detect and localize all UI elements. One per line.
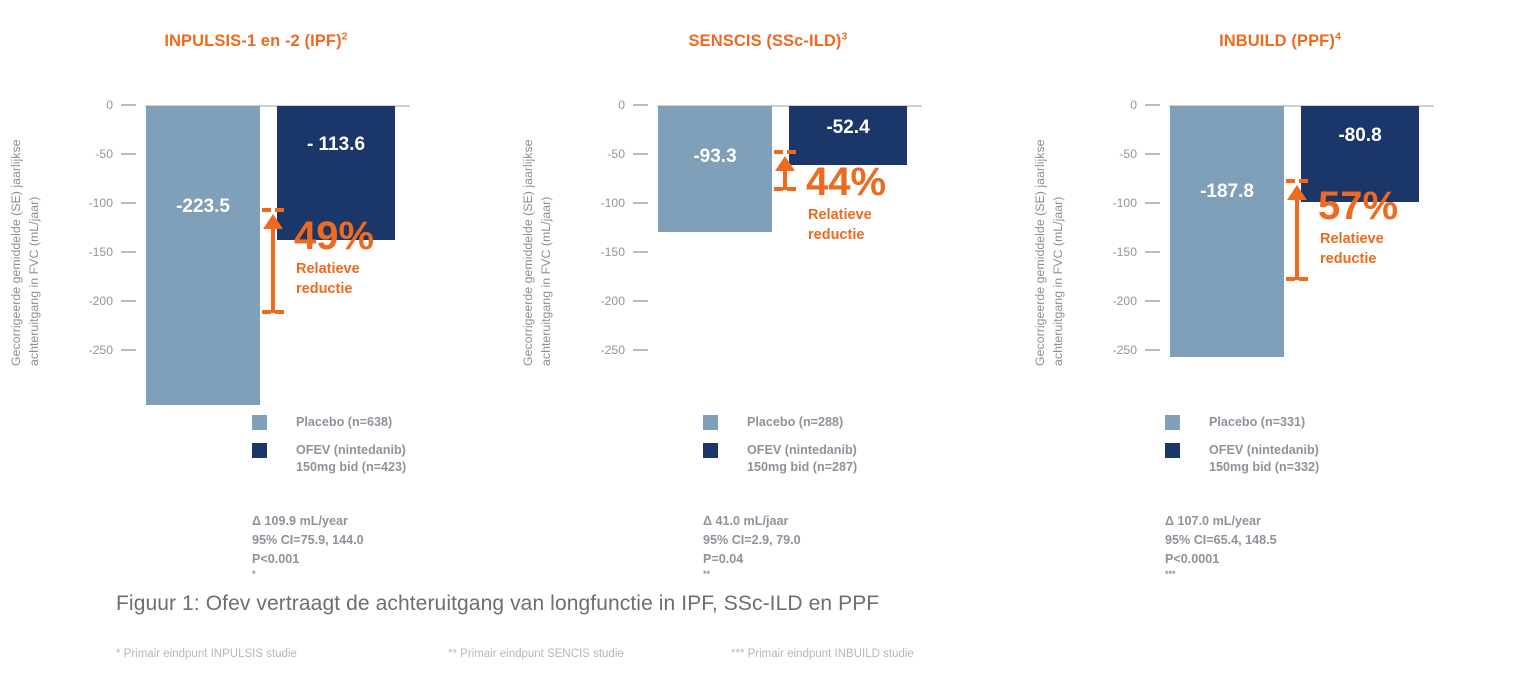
reduction-sub-line1: Relatieve	[808, 206, 872, 226]
legend-label-ofev: OFEV (nintedanib) 150mg bid (n=287)	[747, 442, 857, 476]
chart-panel-inpulsis: INPULSIS-1 en -2 (IPF)2 Gecorrigeerde ge…	[0, 0, 512, 580]
y-axis-title-line2: achteruitgang in FVC (mL/jaar)	[1050, 86, 1068, 366]
stat-pvalue: P=0.04**	[703, 550, 801, 588]
y-tick-m150: -150	[58, 245, 136, 259]
y-tick-m250: -250	[570, 343, 648, 357]
footnote-2: ** Primair eindpunt SENCIS studie	[448, 648, 731, 660]
arrow-head-icon	[1287, 185, 1307, 200]
reduction-sub-line1: Relatieve	[1320, 230, 1384, 250]
stat-ci: 95% CI=2.9, 79.0	[703, 531, 801, 550]
stats-inpulsis: Δ 109.9 mL/year 95% CI=75.9, 144.0 P<0.0…	[252, 512, 364, 588]
y-tick-m200: -200	[58, 294, 136, 308]
plot-area-senscis: Gecorrigeerde gemiddelde (SE) jaarlijkse…	[512, 86, 1024, 376]
stat-ci: 95% CI=65.4, 148.5	[1165, 531, 1277, 550]
legend-label-placebo: Placebo (n=638)	[296, 414, 392, 431]
y-tick-m200: -200	[570, 294, 648, 308]
legend-label-ofev: OFEV (nintedanib) 150mg bid (n=423)	[296, 442, 406, 476]
legend-label-placebo: Placebo (n=331)	[1209, 414, 1305, 431]
y-tick-m50: -50	[570, 147, 648, 161]
legend-item-ofev: OFEV (nintedanib) 150mg bid (n=423)	[252, 442, 552, 476]
tick-dash	[1145, 153, 1160, 155]
dash-marker-top	[1286, 179, 1308, 183]
tick-dash	[1145, 104, 1160, 106]
tick-dash	[633, 300, 648, 302]
reduction-percent: 49%	[294, 216, 374, 256]
tick-dash	[121, 251, 136, 253]
chart-title-superscript: 4	[1335, 31, 1341, 43]
arrow-shaft	[271, 223, 275, 313]
y-axis-title-line1: Gecorrigeerde gemiddelde (SE) jaarlijkse	[1032, 86, 1050, 366]
y-tick-m50: -50	[1082, 147, 1160, 161]
bar-value-placebo: -93.3	[693, 146, 736, 168]
dash-marker-top	[262, 208, 284, 212]
tick-dash	[633, 202, 648, 204]
y-tick-m50: -50	[58, 147, 136, 161]
dash-marker-top	[774, 150, 796, 154]
stat-pvalue-superscript: *	[252, 568, 256, 578]
arrow-head-icon	[263, 214, 283, 229]
legend-item-placebo: Placebo (n=638)	[252, 414, 552, 431]
y-tick-m100: -100	[1082, 196, 1160, 210]
y-tick-m200: -200	[1082, 294, 1160, 308]
bar-ofev-senscis: -52.4	[789, 106, 907, 165]
bar-placebo-inbuild: -187.8	[1170, 106, 1284, 357]
legend-swatch-ofev	[252, 443, 267, 458]
chart-title-text: INBUILD (PPF)	[1219, 32, 1335, 50]
footnote-3: *** Primair eindpunt INBUILD studie	[731, 648, 914, 660]
bar-value-placebo: -223.5	[176, 196, 230, 218]
y-tick-0: 0	[1082, 98, 1160, 112]
bar-value-placebo: -187.8	[1200, 181, 1254, 203]
legend-inbuild: Placebo (n=331) OFEV (nintedanib) 150mg …	[1165, 414, 1465, 487]
y-axis-title-line2: achteruitgang in FVC (mL/jaar)	[538, 86, 556, 366]
figure-footnotes: * Primair eindpunt INPULSIS studie ** Pr…	[116, 648, 914, 660]
stat-pvalue-superscript: ***	[1165, 568, 1176, 578]
y-axis-title-line1: Gecorrigeerde gemiddelde (SE) jaarlijkse	[8, 86, 26, 366]
footnote-1: * Primair eindpunt INPULSIS studie	[116, 648, 448, 660]
y-axis-title-line2: achteruitgang in FVC (mL/jaar)	[26, 86, 44, 366]
y-tick-m150: -150	[570, 245, 648, 259]
chart-title-text: INPULSIS-1 en -2 (IPF)	[164, 32, 341, 50]
chart-title-senscis: SENSCIS (SSc-ILD)3	[512, 32, 1024, 51]
y-tick-m250: -250	[1082, 343, 1160, 357]
tick-dash	[121, 153, 136, 155]
legend-item-ofev: OFEV (nintedanib) 150mg bid (n=287)	[703, 442, 1003, 476]
stat-delta: Δ 41.0 mL/jaar	[703, 512, 801, 531]
legend-label-placebo: Placebo (n=288)	[747, 414, 843, 431]
y-tick-0: 0	[570, 98, 648, 112]
stat-pvalue: P<0.001*	[252, 550, 364, 588]
tick-dash	[633, 349, 648, 351]
legend-item-placebo: Placebo (n=288)	[703, 414, 1003, 431]
tick-dash	[121, 202, 136, 204]
tick-dash	[633, 251, 648, 253]
chart-title-inbuild: INBUILD (PPF)4	[1024, 32, 1536, 51]
y-axis-title-line1: Gecorrigeerde gemiddelde (SE) jaarlijkse	[520, 86, 538, 366]
tick-dash	[121, 104, 136, 106]
legend-swatch-ofev	[1165, 443, 1180, 458]
legend-item-ofev: OFEV (nintedanib) 150mg bid (n=332)	[1165, 442, 1465, 476]
y-axis-ticks-inpulsis: 0 -50 -100 -150 -200 -250	[58, 86, 136, 376]
y-axis-ticks-inbuild: 0 -50 -100 -150 -200 -250	[1082, 86, 1160, 376]
y-tick-m250: -250	[58, 343, 136, 357]
tick-dash	[1145, 300, 1160, 302]
tick-dash	[1145, 251, 1160, 253]
chart-panel-senscis: SENSCIS (SSc-ILD)3 Gecorrigeerde gemidde…	[512, 0, 1024, 580]
y-tick-m100: -100	[570, 196, 648, 210]
tick-dash	[1145, 202, 1160, 204]
bar-value-ofev: - 113.6	[307, 134, 365, 156]
chart-title-text: SENSCIS (SSc-ILD)	[689, 32, 842, 50]
reduction-sub-line1: Relatieve	[296, 260, 360, 280]
legend-swatch-placebo	[252, 415, 267, 430]
reduction-percent: 44%	[806, 162, 886, 202]
legend-item-placebo: Placebo (n=331)	[1165, 414, 1465, 431]
y-axis-ticks-senscis: 0 -50 -100 -150 -200 -250	[570, 86, 648, 376]
stats-senscis: Δ 41.0 mL/jaar 95% CI=2.9, 79.0 P=0.04**	[703, 512, 801, 588]
chart-title-superscript: 2	[342, 31, 348, 43]
y-axis-title-inbuild: Gecorrigeerde gemiddelde (SE) jaarlijkse…	[1032, 86, 1078, 366]
reduction-sub-line2: reductie	[1320, 250, 1376, 270]
y-axis-title-inpulsis: Gecorrigeerde gemiddelde (SE) jaarlijkse…	[8, 86, 54, 366]
tick-dash	[121, 349, 136, 351]
y-tick-m150: -150	[1082, 245, 1160, 259]
reduction-sub-line2: reductie	[808, 226, 864, 246]
y-axis-title-senscis: Gecorrigeerde gemiddelde (SE) jaarlijkse…	[520, 86, 566, 366]
bar-value-ofev: -52.4	[826, 117, 869, 139]
legend-senscis: Placebo (n=288) OFEV (nintedanib) 150mg …	[703, 414, 1003, 487]
bar-placebo-inpulsis: -223.5	[146, 106, 260, 405]
plot-area-inbuild: Gecorrigeerde gemiddelde (SE) jaarlijkse…	[1024, 86, 1536, 376]
y-tick-0: 0	[58, 98, 136, 112]
stat-pvalue: P<0.0001***	[1165, 550, 1277, 588]
stat-delta: Δ 109.9 mL/year	[252, 512, 364, 531]
tick-dash	[633, 153, 648, 155]
legend-inpulsis: Placebo (n=638) OFEV (nintedanib) 150mg …	[252, 414, 552, 487]
tick-dash	[1145, 349, 1160, 351]
figure-caption: Figuur 1: Ofev vertraagt de achteruitgan…	[116, 592, 879, 616]
chart-panel-inbuild: INBUILD (PPF)4 Gecorrigeerde gemiddelde …	[1024, 0, 1536, 580]
reduction-sub-line2: reductie	[296, 280, 352, 300]
chart-title-superscript: 3	[842, 31, 848, 43]
plot-area-inpulsis: Gecorrigeerde gemiddelde (SE) jaarlijkse…	[0, 86, 512, 376]
stat-delta: Δ 107.0 mL/year	[1165, 512, 1277, 531]
reduction-percent: 57%	[1318, 186, 1398, 226]
bar-placebo-senscis: -93.3	[658, 106, 772, 232]
stat-ci: 95% CI=75.9, 144.0	[252, 531, 364, 550]
legend-swatch-ofev	[703, 443, 718, 458]
chart-panels: INPULSIS-1 en -2 (IPF)2 Gecorrigeerde ge…	[0, 0, 1536, 580]
arrow-shaft	[1295, 194, 1299, 280]
legend-swatch-placebo	[703, 415, 718, 430]
stats-inbuild: Δ 107.0 mL/year 95% CI=65.4, 148.5 P<0.0…	[1165, 512, 1277, 588]
tick-dash	[633, 104, 648, 106]
chart-title-inpulsis: INPULSIS-1 en -2 (IPF)2	[0, 32, 512, 51]
y-tick-m100: -100	[58, 196, 136, 210]
legend-label-ofev: OFEV (nintedanib) 150mg bid (n=332)	[1209, 442, 1319, 476]
tick-dash	[121, 300, 136, 302]
arrow-head-icon	[775, 156, 795, 171]
bar-value-ofev: -80.8	[1338, 125, 1381, 147]
stat-pvalue-superscript: **	[703, 568, 710, 578]
legend-swatch-placebo	[1165, 415, 1180, 430]
